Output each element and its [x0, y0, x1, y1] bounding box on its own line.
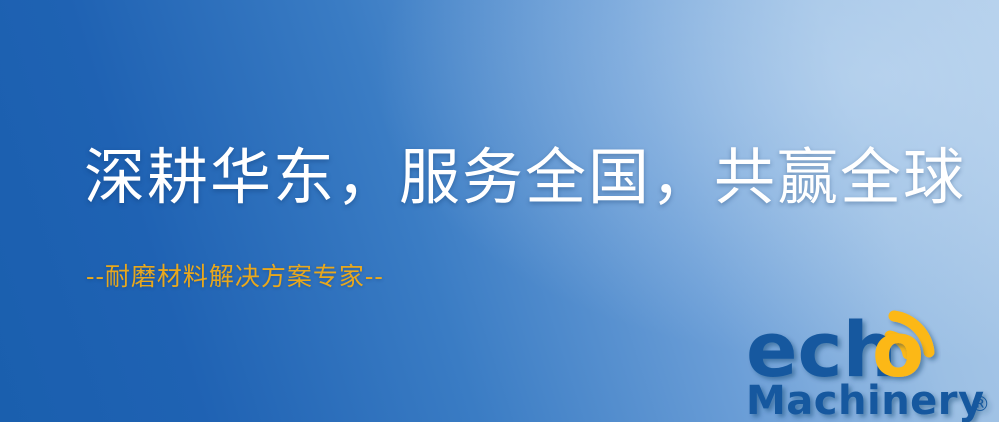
hero-banner: 深耕华东，服务全国，共赢全球 --耐磨材料解决方案专家-- ech o Mach… — [0, 0, 999, 422]
echo-machinery-logo[interactable]: ech o Machinery ® — [744, 296, 999, 422]
logo-registered-trademark-icon: ® — [970, 392, 990, 416]
banner-subtitle: --耐磨材料解决方案专家-- — [86, 264, 384, 289]
banner-headline: 深耕华东，服务全国，共赢全球 — [84, 147, 966, 208]
logo-wordmark-machinery: Machinery — [746, 378, 985, 422]
